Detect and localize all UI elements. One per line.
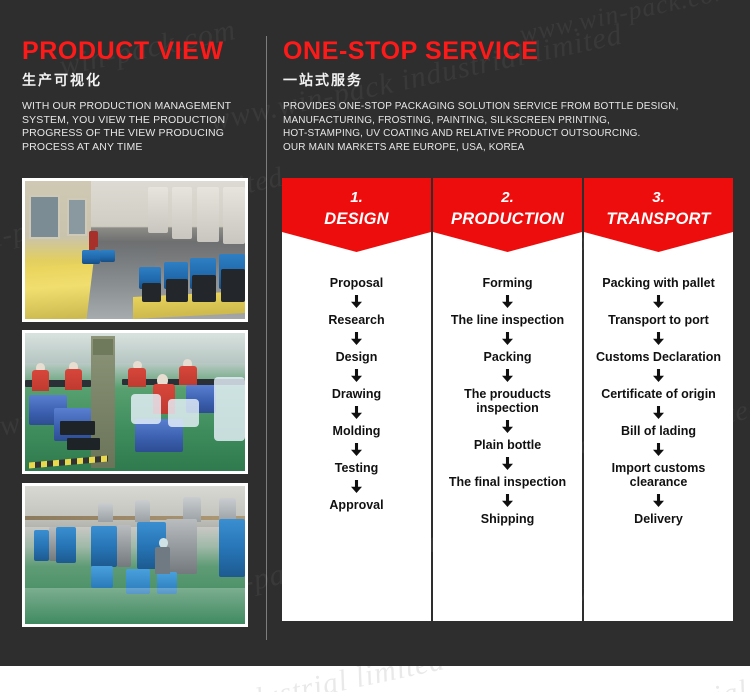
flow-step: Customs Declaration [587,350,730,364]
watermark-text: win-pack industrial limited [96,666,447,692]
flow-step: Shipping [436,512,579,526]
arrow-down-icon [351,295,362,308]
arrow-down-icon [502,457,513,470]
process-flow-columns: 1. DESIGN Proposal Research Design Drawi… [282,178,734,621]
flow-column-design: 1. DESIGN Proposal Research Design Drawi… [282,178,431,621]
description-line: HOT-STAMPING, UV COATING AND RELATIVE PR… [283,127,738,141]
flow-step: Molding [285,424,428,438]
one-stop-service-description: PROVIDES ONE-STOP PACKAGING SOLUTION SER… [283,100,738,154]
flow-step: Forming [436,276,579,290]
arrow-down-icon [351,480,362,493]
factory-photo-1 [22,178,248,322]
flow-banner-design: 1. DESIGN [282,178,431,232]
flow-name: TRANSPORT [584,208,733,230]
arrow-down-icon [653,332,664,345]
arrow-down-icon [653,494,664,507]
factory-photo-2 [22,330,248,474]
flow-step: Packing with pallet [587,276,730,290]
arrow-down-icon [653,295,664,308]
description-line: PROVIDES ONE-STOP PACKAGING SOLUTION SER… [283,100,738,114]
description-line: PROGRESS OF THE VIEW PRODUCING [22,127,254,141]
product-view-title: PRODUCT VIEW [22,36,254,66]
description-line: OUR MAIN MARKETS ARE EUROPE, USA, KOREA [283,141,738,155]
flow-step: Transport to port [587,313,730,327]
arrow-down-icon [502,369,513,382]
flow-name: DESIGN [282,208,431,230]
flow-step: Bill of lading [587,424,730,438]
flow-number: 3. [584,188,733,208]
flow-number: 1. [282,188,431,208]
flow-step: The final inspection [436,475,579,489]
arrow-down-icon [351,406,362,419]
one-stop-service-title: ONE-STOP SERVICE [283,36,738,66]
dark-background-panel: win-pack.com www.win-pack.com www.win-pa… [0,0,750,666]
flow-step: Research [285,313,428,327]
flow-step: Delivery [587,512,730,526]
flow-number: 2. [433,188,582,208]
flow-steps-production: Forming The line inspection Packing The … [433,276,582,621]
one-stop-service-section: ONE-STOP SERVICE 一站式服务 PROVIDES ONE-STOP… [283,36,738,154]
bottom-white-strip: win-pack industrial limited win-pack ind… [0,666,750,692]
product-view-subtitle-cn: 生产可视化 [22,70,254,90]
flow-column-production: 2. PRODUCTION Forming The line inspectio… [433,178,582,621]
flow-column-transport: 3. TRANSPORT Packing with pallet Transpo… [584,178,733,621]
flow-steps-design: Proposal Research Design Drawing Molding… [282,276,431,621]
flow-step: Proposal [285,276,428,290]
flow-banner-production: 2. PRODUCTION [433,178,582,232]
flow-name: PRODUCTION [433,208,582,230]
description-line: WITH OUR PRODUCTION MANAGEMENT [22,100,254,114]
flow-step: The prouducts inspection [436,387,579,415]
page-root: win-pack.com www.win-pack.com www.win-pa… [0,0,750,692]
flow-step: The line inspection [436,313,579,327]
product-view-description: WITH OUR PRODUCTION MANAGEMENT SYSTEM, Y… [22,100,254,154]
flow-step: Import customs clearance [587,461,730,489]
flow-step: Testing [285,461,428,475]
flow-step: Drawing [285,387,428,401]
product-view-section: PRODUCT VIEW 生产可视化 WITH OUR PRODUCTION M… [22,36,254,154]
flow-steps-transport: Packing with pallet Transport to port Cu… [584,276,733,621]
flow-step: Plain bottle [436,438,579,452]
arrow-down-icon [351,443,362,456]
arrow-down-icon [653,369,664,382]
arrow-down-icon [502,295,513,308]
watermark-layer-bottom: win-pack industrial limited win-pack ind… [0,666,750,692]
flow-step: Packing [436,350,579,364]
flow-banner-transport: 3. TRANSPORT [584,178,733,232]
one-stop-service-subtitle-cn: 一站式服务 [283,70,738,90]
flow-step: Approval [285,498,428,512]
arrow-down-icon [351,332,362,345]
arrow-down-icon [502,494,513,507]
arrow-down-icon [351,369,362,382]
description-line: SYSTEM, YOU VIEW THE PRODUCTION [22,114,254,128]
description-line: PROCESS AT ANY TIME [22,141,254,155]
arrow-down-icon [653,406,664,419]
flow-step: Design [285,350,428,364]
arrow-down-icon [502,332,513,345]
flow-step: Certificate of origin [587,387,730,401]
description-line: MANUFACTURING, FROSTING, PAINTING, SILKS… [283,114,738,128]
factory-photo-3 [22,483,248,627]
arrow-down-icon [653,443,664,456]
watermark-text: win-pack industrial limited [496,666,750,692]
arrow-down-icon [502,420,513,433]
vertical-divider [266,36,267,640]
